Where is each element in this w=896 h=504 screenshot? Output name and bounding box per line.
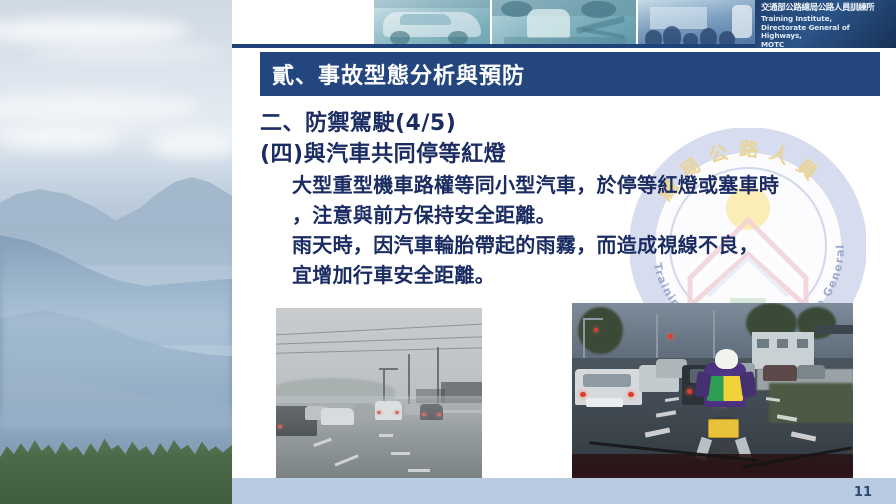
slide-title: 貳、事故型態分析與預防 [272, 52, 525, 96]
cloud-band [30, 44, 220, 62]
title-bar-notch [232, 52, 260, 96]
slide-title-bar: 貳、事故型態分析與預防 [232, 52, 880, 96]
page-number: 11 [854, 485, 872, 500]
photo-motorcycle-in-traffic [572, 303, 853, 485]
slide-body-text: 二、防禦駕駛(4/5) (四)與汽車共同停等紅燈 大型重型機車路權等同小型汽車，… [246, 108, 886, 290]
photo-rain-highway-low-visibility [276, 308, 482, 483]
body-paragraph-line: 宜增加行車安全距離。 [246, 260, 886, 290]
body-paragraph-line: ，注意與前方保持安全距離。 [246, 200, 886, 230]
institution-name-zh: 交通部公路總局公路人員訓練所 [761, 3, 892, 13]
body-heading-line: (四)與汽車共同停等紅燈 [246, 139, 886, 170]
slide-footer-bar [232, 478, 896, 504]
valley-haze [0, 230, 232, 430]
institution-label: 交通部公路總局公路人員訓練所 Training Institute, Direc… [755, 0, 896, 48]
body-paragraph-line: 大型重型機車路權等同小型汽車，於停等紅燈或塞車時 [246, 170, 886, 200]
header-photo-classroom-lecture [638, 0, 762, 48]
institution-name-en-line2: Directorate General of Highways, [761, 24, 892, 41]
institution-name-en: Training Institute, Directorate General … [761, 15, 892, 48]
body-paragraph-line: 雨天時，因汽車輪胎帶起的雨霧，而造成視線不良， [246, 230, 886, 260]
cloud-band [0, 18, 190, 44]
slide-panel: 交通部公路總局公路人員訓練所 Training Institute, Direc… [232, 0, 896, 504]
cloud-puff [0, 128, 120, 150]
cloud-band [0, 92, 200, 122]
institution-name-en-line3: MOTC [761, 41, 892, 48]
header-photo-vehicle-wreck [492, 0, 636, 48]
header-photo-crash-test-car [374, 0, 490, 48]
body-heading-line: 二、防禦駕駛(4/5) [246, 108, 886, 139]
cloud-puff [150, 132, 232, 158]
background-mountain-photo [0, 0, 232, 504]
